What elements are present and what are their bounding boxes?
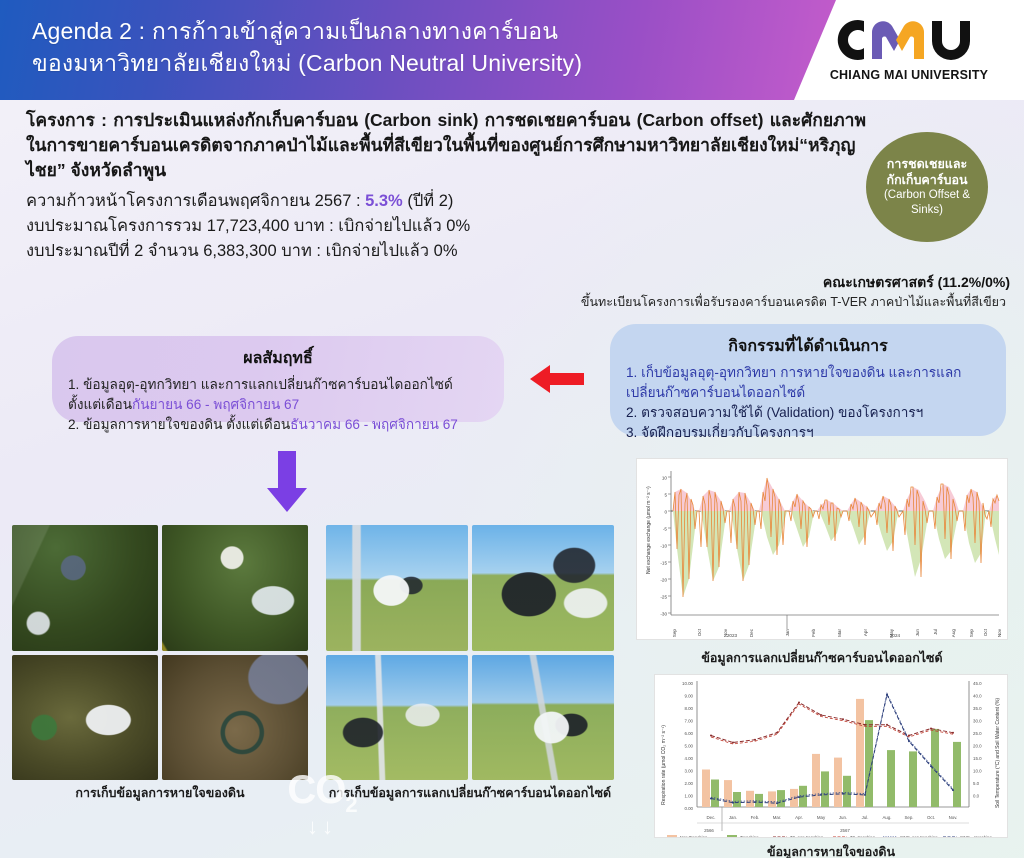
- svg-text:20.0: 20.0: [973, 744, 982, 749]
- slide-root: Agenda 2 : การก้าวเข้าสู่ความเป็นกลางทาง…: [0, 0, 1024, 858]
- page-title-line1: Agenda 2 : การก้าวเข้าสู่ความเป็นกลางทาง…: [32, 16, 792, 48]
- chart2-swc-markers: [710, 694, 954, 805]
- svg-text:Oct: Oct: [983, 628, 988, 636]
- tver-registration-note: ขึ้นทะเบียนโครงการเพื่อรับรองคาร์บอนเครด…: [581, 292, 1006, 312]
- svg-text:0.00: 0.00: [684, 806, 693, 811]
- svg-text:0: 0: [664, 510, 667, 515]
- intro-detail-lines: ความก้าวหน้าโครงการเดือนพฤศจิกายน 2567 :…: [26, 189, 866, 264]
- svg-text:-25: -25: [660, 595, 667, 600]
- page-title-line2: ของมหาวิทยาลัยเชียงใหม่ (Carbon Neutral …: [32, 48, 792, 80]
- svg-text:6.00: 6.00: [684, 731, 693, 736]
- flux-tower-photo-grid: [326, 525, 614, 780]
- chart2-group-2566: 2566: [704, 828, 714, 833]
- activities-card-title: กิจกรรมที่ได้ดำเนินการ: [626, 334, 990, 359]
- progress-suffix: (ปีที่ 2): [403, 192, 454, 210]
- svg-text:25.0: 25.0: [973, 731, 982, 736]
- chart2-ts-markers: [710, 702, 954, 744]
- chart2-x-ticks: Dec. Jan. Feb. Mar. Apr. May Jun. Jul. A…: [706, 815, 957, 820]
- svg-text:40.0: 40.0: [973, 694, 982, 699]
- svg-text:Mar: Mar: [837, 629, 842, 637]
- net-co2-exchange-plot: Net exchange exchange (µmol m⁻² s⁻¹) 10 …: [637, 459, 1007, 639]
- chart2-line-ts-non-trenching: [711, 703, 953, 743]
- svg-text:Sep: Sep: [672, 629, 677, 638]
- activities-item-1: 1. เก็บข้อมูลอุตุ-อุทกวิทยา การหายใจของด…: [626, 363, 990, 403]
- soil-respiration-plot: Respiration rate (µmol CO₂ m⁻² s⁻¹) Soil…: [655, 675, 1007, 837]
- svg-text:Nov.: Nov.: [949, 815, 958, 820]
- results-card-body: 1. ข้อมูลอุตุ-อุทกวิทยา และการแลกเปลี่ยน…: [68, 375, 488, 435]
- photo-portable-gas-analyzer: [12, 655, 158, 781]
- faculty-label: คณะเกษตรศาสตร์ (11.2%/0%): [823, 272, 1010, 294]
- svg-text:Jun.: Jun.: [839, 815, 847, 820]
- svg-text:-15: -15: [660, 561, 667, 566]
- svg-text:-20: -20: [660, 578, 667, 583]
- chart1-y-axis-label: Net exchange exchange (µmol m⁻² s⁻¹): [646, 486, 652, 574]
- svg-text:Jan: Jan: [785, 629, 790, 637]
- svg-text:Feb: Feb: [811, 629, 816, 637]
- badge-line-3: (Carbon Offset &: [884, 188, 970, 202]
- svg-text:1.00: 1.00: [684, 794, 693, 799]
- photo-person-inspecting-flux-tower: [326, 655, 468, 781]
- activities-card-body: 1. เก็บข้อมูลอุตุ-อุทกวิทยา การหายใจของด…: [626, 363, 990, 442]
- cmu-logo: CHIANG MAI UNIVERSITY: [814, 14, 1004, 88]
- chart1-x-ticks: Sep Oct Nov Dec Jan Feb Mar Apr May Jun …: [672, 628, 1002, 637]
- chart1-group-2024: 2024: [890, 633, 901, 638]
- svg-text:Apr.: Apr.: [795, 815, 803, 820]
- cmu-logo-letters: [814, 14, 1004, 66]
- photo-researcher-with-laptop-at-flux-tower: [472, 525, 614, 651]
- svg-text:Apr: Apr: [863, 629, 868, 637]
- svg-text:Jun: Jun: [915, 629, 920, 637]
- chart2-y-ticks: 10.00 9.00 8.00 7.00 6.00 5.00 4.00 3.00…: [682, 681, 694, 811]
- photo-researcher-measuring-soil-respiration: [12, 525, 158, 651]
- soil-respiration-chart: Respiration rate (µmol CO₂ m⁻² s⁻¹) Soil…: [654, 674, 1008, 838]
- chart1-y-ticks: 10 5 0 -5 -10 -15 -20 -25 -30: [660, 476, 667, 617]
- results-card: ผลสัมฤทธิ์ 1. ข้อมูลอุตุ-อุทกวิทยา และกา…: [52, 336, 504, 422]
- svg-text:-10: -10: [660, 544, 667, 549]
- svg-text:Dec.: Dec.: [706, 815, 715, 820]
- svg-text:Mar.: Mar.: [773, 815, 782, 820]
- soil-respiration-caption: ข้อมูลการหายใจของดิน: [654, 842, 1008, 858]
- budget-year2-line: งบประมาณปีที่ 2 จำนวน 6,383,300 บาท : เบ…: [26, 239, 866, 264]
- chart2-legend-item-2: TS_non trenching: [790, 835, 824, 837]
- results-item-1-highlight: กันยายน 66 - พฤศจิกายน 67: [132, 397, 299, 412]
- svg-text:0.0: 0.0: [973, 794, 980, 799]
- progress-prefix: ความก้าวหน้าโครงการเดือนพฤศจิกายน 2567 :: [26, 192, 365, 210]
- net-co2-exchange-caption: ข้อมูลการแลกเปลี่ยนก๊าซคาร์บอนไดออกไซด์: [636, 648, 1008, 668]
- svg-text:30.0: 30.0: [973, 719, 982, 724]
- net-co2-exchange-chart: Net exchange exchange (µmol m⁻² s⁻¹) 10 …: [636, 458, 1008, 640]
- badge-line-4: Sinks): [911, 203, 943, 217]
- svg-text:8.00: 8.00: [684, 706, 693, 711]
- results-item-1: 1. ข้อมูลอุตุ-อุทกวิทยา และการแลกเปลี่ยน…: [68, 375, 488, 415]
- svg-text:10.00: 10.00: [682, 681, 694, 686]
- svg-text:Sep: Sep: [969, 629, 974, 638]
- photo-two-researchers-servicing-flux-tower: [472, 655, 614, 781]
- chart1-group-2023: 2023: [727, 633, 738, 638]
- chart2-legend-item-3: TS_trenching: [850, 835, 876, 837]
- results-item-2-highlight: ธันวาคม 66 - พฤศจิกายน 67: [290, 417, 458, 432]
- activities-item-3: 3. จัดฝึกอบรมเกี่ยวกับโครงการฯ: [626, 423, 990, 443]
- svg-text:3.00: 3.00: [684, 769, 693, 774]
- progress-line: ความก้าวหน้าโครงการเดือนพฤศจิกายน 2567 :…: [26, 189, 866, 214]
- chart2-legend-item-5: SWC__trenching: [960, 835, 992, 837]
- results-item-2-text: 2. ข้อมูลการหายใจของดิน ตั้งแต่เดือน: [68, 417, 290, 432]
- chart2-legend-item-0: Non Trenching: [680, 835, 708, 837]
- svg-text:Aug.: Aug.: [882, 815, 891, 820]
- arrow-down-purple-icon: [264, 448, 310, 514]
- svg-text:5: 5: [664, 493, 667, 498]
- svg-text:5.00: 5.00: [684, 744, 693, 749]
- cmu-logo-icon: [820, 14, 998, 66]
- results-card-title: ผลสัมฤทธิ์: [68, 346, 488, 371]
- chart2-legend-item-4: SWC_non trenching: [900, 835, 938, 837]
- cmu-logo-subtitle: CHIANG MAI UNIVERSITY: [814, 68, 1004, 82]
- svg-text:-30: -30: [660, 612, 667, 617]
- svg-text:Sep.: Sep.: [904, 815, 913, 820]
- chart2-y2-ticks: 45.0 40.0 35.0 30.0 25.0 20.0 15.0 10.0 …: [973, 681, 982, 799]
- carbon-offset-badge: การชดเชยและ กักเก็บคาร์บอน (Carbon Offse…: [866, 132, 988, 242]
- page-title: Agenda 2 : การก้าวเข้าสู่ความเป็นกลางทาง…: [32, 16, 792, 79]
- chart2-y-axis-label: Respiration rate (µmol CO₂ m⁻² s⁻¹): [661, 725, 667, 805]
- svg-text:4.00: 4.00: [684, 756, 693, 761]
- chart1-y-tickmarks: [668, 477, 671, 613]
- activities-card: กิจกรรมที่ได้ดำเนินการ 1. เก็บข้อมูลอุตุ…: [610, 324, 1006, 436]
- photo-hand-placing-soil-collar: [162, 655, 308, 781]
- slide-header: Agenda 2 : การก้าวเข้าสู่ความเป็นกลางทาง…: [0, 0, 1024, 100]
- svg-text:-5: -5: [663, 527, 668, 532]
- chart2-line-ts-trenching: [711, 704, 953, 744]
- soil-respiration-photo-caption: การเก็บข้อมูลการหายใจของดิน: [12, 783, 308, 803]
- svg-text:Oct: Oct: [697, 628, 702, 636]
- activities-item-2: 2. ตรวจสอบความใช้ได้ (Validation) ของโคร…: [626, 403, 990, 423]
- chart2-legend: Non Trenching Trenching TS_non trenching…: [667, 835, 992, 837]
- chart2-legend-item-1: Trenching: [740, 835, 759, 837]
- budget-total-line: งบประมาณโครงการรวม 17,723,400 บาท : เบิก…: [26, 214, 866, 239]
- badge-line-1: การชดเชยและ: [887, 157, 967, 173]
- svg-text:7.00: 7.00: [684, 719, 693, 724]
- badge-line-2: กักเก็บคาร์บอน: [887, 173, 968, 189]
- chart2-y2-axis-label: Soil Temperature (°C) and Soil Water Con…: [995, 698, 1001, 808]
- svg-text:Jul: Jul: [933, 629, 938, 635]
- svg-text:Oct.: Oct.: [927, 815, 935, 820]
- intro-block: โครงการ : การประเมินแหล่งกักเก็บคาร์บอน …: [26, 108, 866, 264]
- svg-text:45.0: 45.0: [973, 681, 982, 686]
- progress-value: 5.3%: [365, 192, 403, 210]
- svg-text:9.00: 9.00: [684, 694, 693, 699]
- svg-text:10: 10: [662, 476, 668, 481]
- svg-text:5.0: 5.0: [973, 781, 980, 786]
- svg-text:10.0: 10.0: [973, 769, 982, 774]
- svg-text:Feb.: Feb.: [751, 815, 760, 820]
- svg-text:Dec: Dec: [749, 628, 754, 637]
- flux-tower-photo-caption: การเก็บข้อมูลการแลกเปลี่ยนก๊าซคาร์บอนไดอ…: [326, 783, 614, 803]
- photo-soil-chamber-with-analyzer: [162, 525, 308, 651]
- soil-respiration-photo-grid: [12, 525, 308, 780]
- results-item-2: 2. ข้อมูลการหายใจของดิน ตั้งแต่เดือนธันว…: [68, 415, 488, 435]
- svg-text:2.00: 2.00: [684, 781, 693, 786]
- project-title: โครงการ : การประเมินแหล่งกักเก็บคาร์บอน …: [26, 108, 866, 183]
- svg-text:Nov: Nov: [997, 628, 1002, 637]
- svg-text:Aug: Aug: [951, 629, 956, 638]
- svg-text:35.0: 35.0: [973, 706, 982, 711]
- svg-text:15.0: 15.0: [973, 756, 982, 761]
- arrow-left-red-icon: [528, 362, 586, 396]
- svg-text:May: May: [817, 815, 826, 820]
- svg-text:Jan.: Jan.: [729, 815, 737, 820]
- svg-text:Jul.: Jul.: [862, 815, 869, 820]
- photo-technician-at-flux-tower-datalogger: [326, 525, 468, 651]
- chart2-group-2567: 2567: [840, 828, 850, 833]
